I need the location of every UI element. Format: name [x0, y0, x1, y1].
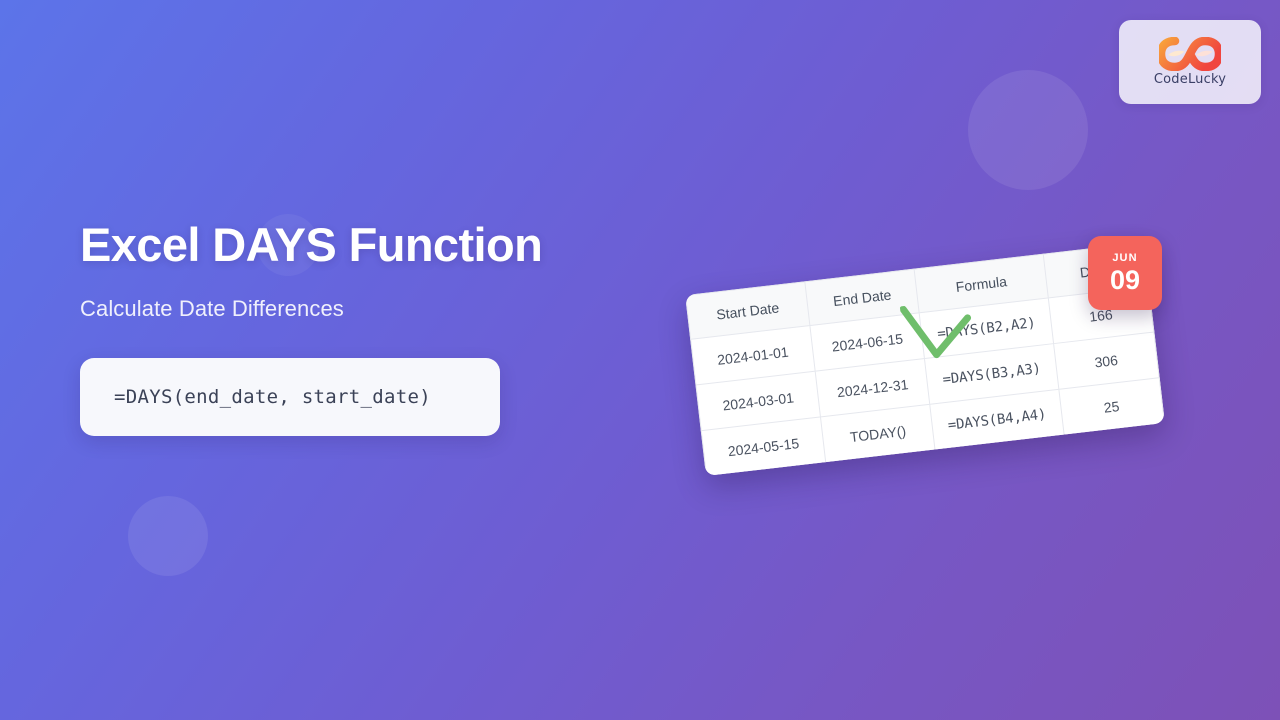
calendar-day: 09 [1110, 265, 1140, 295]
calendar-month: JUN [1112, 252, 1137, 264]
syntax-text: =DAYS(end_date, start_date) [80, 386, 431, 408]
page-subtitle: Calculate Date Differences [80, 296, 550, 322]
syntax-card: =DAYS(end_date, start_date) [80, 358, 500, 436]
infinity-leaf-icon [1159, 37, 1221, 71]
decorative-circle-large [968, 70, 1088, 190]
hero-section: Excel DAYS Function Calculate Date Diffe… [80, 216, 550, 436]
slide-canvas: CodeLucky Excel DAYS Function Calculate … [0, 0, 1280, 720]
page-title: Excel DAYS Function [80, 216, 550, 274]
decorative-circle-small [128, 496, 208, 576]
brand-name: CodeLucky [1154, 72, 1226, 87]
brand-badge[interactable]: CodeLucky [1119, 20, 1261, 104]
calendar-badge: JUN 09 [1088, 236, 1162, 310]
